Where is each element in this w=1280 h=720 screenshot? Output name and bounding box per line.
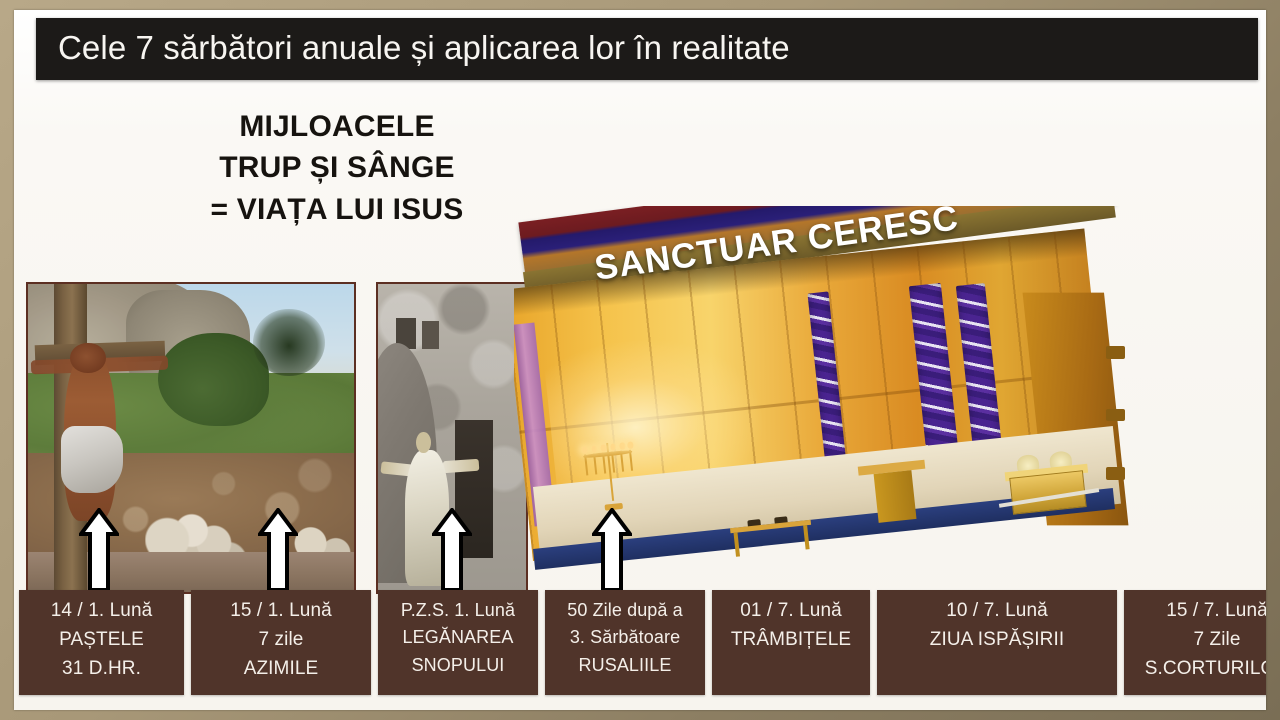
label-line-1: 15 / 7. Lună [1124,597,1266,626]
arrow-pastele [79,508,119,592]
label-trambitele[interactable]: 01 / 7. Lună TRÂMBIȚELE [712,590,870,695]
label-sarbatoarea-corturilor[interactable]: 15 / 7. Lună 7 Zile S.CORTURILOR [1124,590,1266,695]
label-line-1: P.Z.S. 1. Lună [378,597,538,624]
label-line-2: 7 Zile [1124,626,1266,655]
label-line-3: RUSALIILE [545,652,705,679]
table-of-showbread [729,514,813,557]
slide-canvas: Cele 7 sărbători anuale și aplicarea lor… [14,10,1266,710]
menorah-icon [578,429,642,512]
label-line-3: S.CORTURILOR [1124,655,1266,684]
page-title: Cele 7 sărbători anuale și aplicarea lor… [58,29,790,67]
label-line-2: 7 zile [191,626,371,655]
label-ziua-ispasirii[interactable]: 10 / 7. Lună ZIUA ISPĂȘIRII [877,590,1117,695]
label-line-3: SNOPULUI [378,652,538,679]
ark-of-the-covenant [1007,448,1088,518]
arrow-azimile [258,508,298,592]
label-line-1: 01 / 7. Lună [712,597,870,626]
tomb-niche-secondary [422,321,438,349]
label-line-3: AZIMILE [191,655,371,684]
label-pastele[interactable]: 14 / 1. Lună PAȘTELE 31 D.HR. [19,590,184,695]
label-line-2: PAȘTELE [19,626,184,655]
headline-line-1: MIJLOACELE [132,106,542,147]
label-rusaliile[interactable]: 50 Zile după a 3. Sărbătoare RUSALIILE [545,590,705,695]
label-line-2: 3. Sărbătoare [545,624,705,651]
sanctuary-wall-ring [1106,409,1125,421]
headline-block: MIJLOACELE TRUP ȘI SÂNGE = VIAȚA LUI ISU… [132,106,542,230]
label-line-2: LEGĂNAREA [378,624,538,651]
jesus-loincloth [61,426,123,494]
label-line-2: TRÂMBIȚELE [712,626,870,655]
headline-line-2: TRUP ȘI SÂNGE [132,147,542,188]
image-crucifixion [26,282,356,594]
altar-of-incense [864,461,926,533]
label-line-1: 50 Zile după a [545,597,705,624]
label-azimile[interactable]: 15 / 1. Lună 7 zile AZIMILE [191,590,371,695]
risen-jesus-right-arm [443,458,479,473]
label-leganarea-snopului[interactable]: P.Z.S. 1. Lună LEGĂNAREA SNOPULUI [378,590,538,695]
label-line-1: 14 / 1. Lună [19,597,184,626]
arrow-rusaliile [592,508,632,592]
label-line-3: 31 D.HR. [19,655,184,684]
crucifixion-tree [253,309,325,377]
label-line-1: 15 / 1. Lună [191,597,371,626]
label-line-1: 10 / 7. Lună [877,597,1117,626]
sanctuary-wall-ring [1106,467,1125,479]
title-bar: Cele 7 sărbători anuale și aplicarea lor… [36,18,1258,80]
label-line-2: ZIUA ISPĂȘIRII [877,626,1117,655]
sanctuary-wall-ring [1106,346,1125,358]
headline-line-3: = VIAȚA LUI ISUS [132,189,542,230]
arrow-leganarea-snopului [432,508,472,592]
